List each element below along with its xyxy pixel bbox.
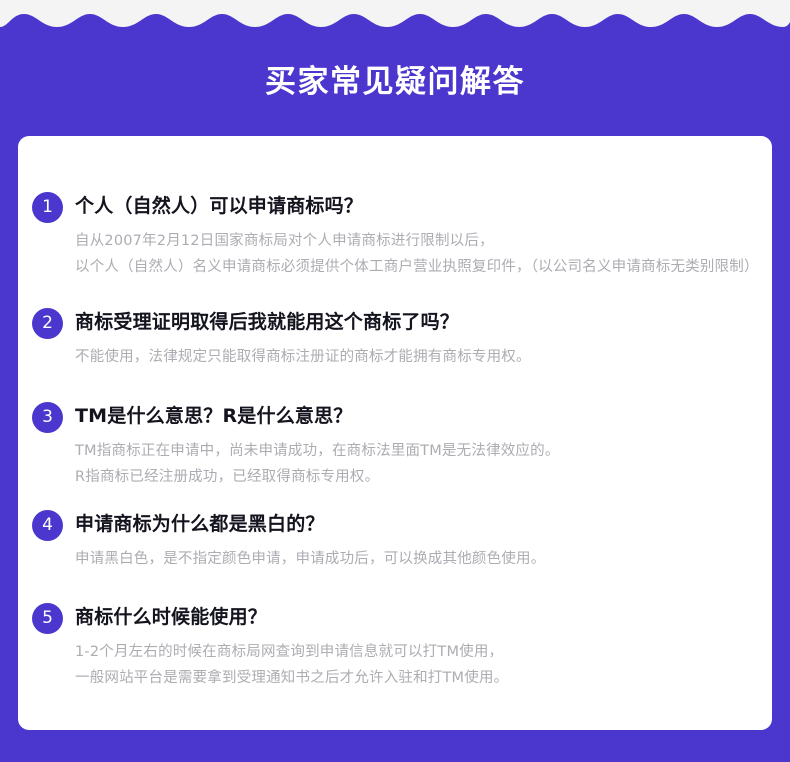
faq-item[interactable]: 2 商标受理证明取得后我就能用这个商标了吗？ 不能使用，法律规定只能取得商标注册… (18, 308, 772, 370)
page-title: 买家常见疑问解答 (0, 62, 790, 102)
faq-answer-line: R指商标已经注册成功，已经取得商标专用权。 (75, 464, 760, 490)
faq-question: 商标受理证明取得后我就能用这个商标了吗？ (75, 308, 760, 336)
faq-number-badge: 4 (32, 510, 63, 541)
faq-body: 商标什么时候能使用？ 1-2个月左右的时候在商标局网查询到申请信息就可以打TM使… (75, 603, 772, 691)
faq-list: 1 个人（自然人）可以申请商标吗？ 自从2007年2月12日国家商标局对个人申请… (18, 136, 772, 730)
faq-answer-line: 1-2个月左右的时候在商标局网查询到申请信息就可以打TM使用， (75, 639, 760, 665)
faq-answer-line: 不能使用，法律规定只能取得商标注册证的商标才能拥有商标专用权。 (75, 344, 760, 370)
faq-number-badge: 3 (32, 402, 63, 433)
faq-answer-line: 一般网站平台是需要拿到受理通知书之后才允许入驻和打TM使用。 (75, 665, 760, 691)
faq-answer: 不能使用，法律规定只能取得商标注册证的商标才能拥有商标专用权。 (75, 344, 760, 370)
faq-answer-line: 以个人（自然人）名义申请商标必须提供个体工商户营业执照复印件，（以公司名义申请商… (75, 254, 760, 280)
faq-answer-line: TM指商标正在申请中，尚未申请成功，在商标法里面TM是无法律效应的。 (75, 438, 760, 464)
faq-number-badge: 1 (32, 192, 63, 223)
faq-answer: TM指商标正在申请中，尚未申请成功，在商标法里面TM是无法律效应的。 R指商标已… (75, 438, 760, 490)
faq-number-badge: 5 (32, 603, 63, 634)
faq-answer: 自从2007年2月12日国家商标局对个人申请商标进行限制以后， 以个人（自然人）… (75, 228, 760, 280)
faq-page: 买家常见疑问解答 1 个人（自然人）可以申请商标吗？ 自从2007年2月12日国… (0, 0, 790, 762)
faq-item[interactable]: 3 TM是什么意思？R是什么意思？ TM指商标正在申请中，尚未申请成功，在商标法… (18, 402, 772, 490)
faq-question: TM是什么意思？R是什么意思？ (75, 402, 760, 430)
faq-item[interactable]: 4 申请商标为什么都是黑白的？ 申请黑白色，是不指定颜色申请，申请成功后，可以换… (18, 510, 772, 572)
faq-number-badge: 2 (32, 308, 63, 339)
faq-body: TM是什么意思？R是什么意思？ TM指商标正在申请中，尚未申请成功，在商标法里面… (75, 402, 772, 490)
faq-item[interactable]: 1 个人（自然人）可以申请商标吗？ 自从2007年2月12日国家商标局对个人申请… (18, 192, 772, 280)
faq-question: 个人（自然人）可以申请商标吗？ (75, 192, 760, 220)
faq-answer: 申请黑白色，是不指定颜色申请，申请成功后，可以换成其他颜色使用。 (75, 546, 760, 572)
faq-body: 个人（自然人）可以申请商标吗？ 自从2007年2月12日国家商标局对个人申请商标… (75, 192, 772, 280)
faq-card: 1 个人（自然人）可以申请商标吗？ 自从2007年2月12日国家商标局对个人申请… (18, 136, 772, 730)
faq-answer-line: 申请黑白色，是不指定颜色申请，申请成功后，可以换成其他颜色使用。 (75, 546, 760, 572)
faq-question: 申请商标为什么都是黑白的？ (75, 510, 760, 538)
faq-body: 商标受理证明取得后我就能用这个商标了吗？ 不能使用，法律规定只能取得商标注册证的… (75, 308, 772, 370)
faq-body: 申请商标为什么都是黑白的？ 申请黑白色，是不指定颜色申请，申请成功后，可以换成其… (75, 510, 772, 572)
faq-answer: 1-2个月左右的时候在商标局网查询到申请信息就可以打TM使用， 一般网站平台是需… (75, 639, 760, 691)
faq-item[interactable]: 5 商标什么时候能使用？ 1-2个月左右的时候在商标局网查询到申请信息就可以打T… (18, 603, 772, 691)
faq-question: 商标什么时候能使用？ (75, 603, 760, 631)
faq-answer-line: 自从2007年2月12日国家商标局对个人申请商标进行限制以后， (75, 228, 760, 254)
